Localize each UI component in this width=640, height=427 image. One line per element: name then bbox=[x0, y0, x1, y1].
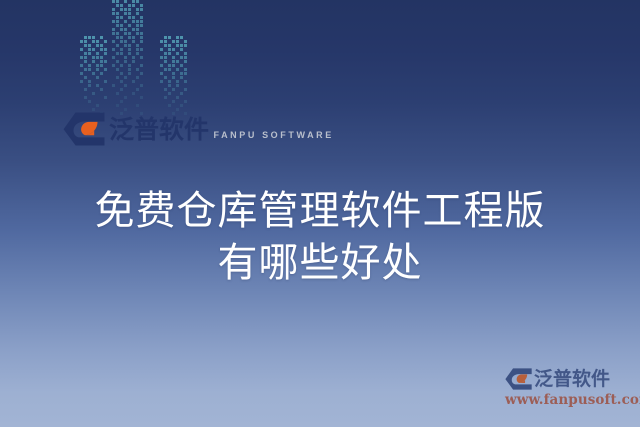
cityscape-right-tower bbox=[160, 36, 188, 116]
cityscape-center-tower bbox=[112, 0, 144, 116]
page-title-line-1: 免费仓库管理软件工程版 bbox=[0, 185, 640, 237]
fanpu-logo-mark-icon bbox=[63, 112, 105, 146]
fanpu-logo: 泛普软件 FANPU SOFTWARE bbox=[63, 112, 334, 146]
cityscape-left-tower bbox=[80, 36, 108, 116]
watermark-logo: 泛普软件 bbox=[505, 368, 637, 390]
pixel-cityscape-icon bbox=[80, 24, 185, 116]
fanpu-logo-wordmark: 泛普软件 FANPU SOFTWARE bbox=[109, 116, 334, 143]
page-title-line-2: 有哪些好处 bbox=[0, 237, 640, 289]
page-title: 免费仓库管理软件工程版 有哪些好处 bbox=[0, 185, 640, 289]
watermark-name-cn: 泛普软件 bbox=[534, 369, 610, 390]
fanpu-logo-name-en: FANPU SOFTWARE bbox=[213, 130, 333, 140]
slide-canvas: 泛普软件 FANPU SOFTWARE 免费仓库管理软件工程版 有哪些好处 泛普… bbox=[0, 0, 640, 427]
watermark: 泛普软件 www.fanpusoft.com bbox=[505, 368, 637, 408]
fanpu-logo-name-cn: 泛普软件 bbox=[109, 115, 209, 144]
watermark-logo-mark-icon bbox=[505, 368, 532, 390]
watermark-url: www.fanpusoft.com bbox=[505, 392, 637, 408]
